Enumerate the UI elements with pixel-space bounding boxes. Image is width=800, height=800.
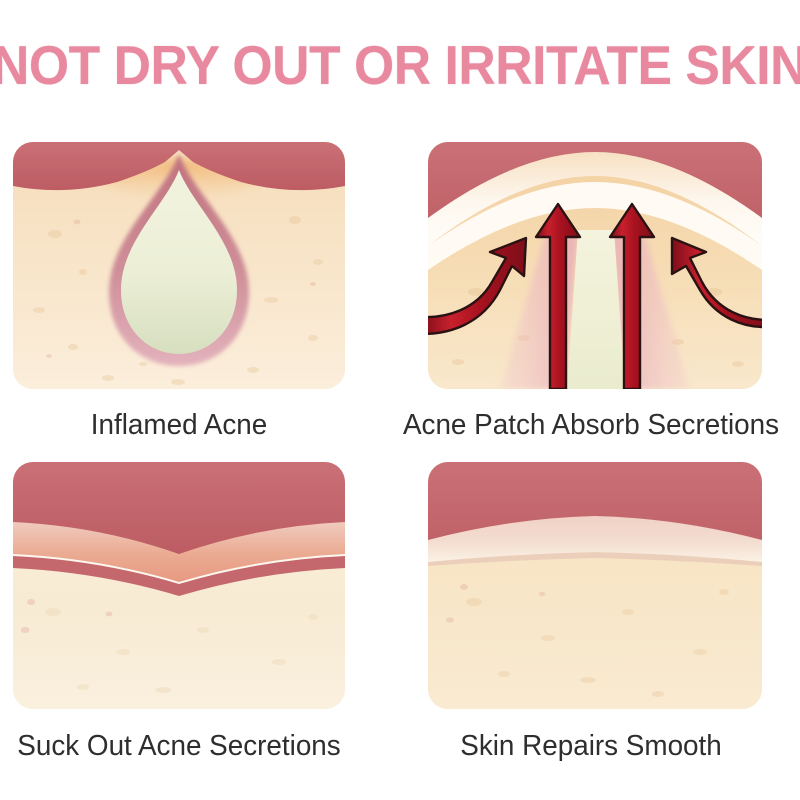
panel-inflamed-acne: [13, 142, 345, 389]
page-title-text: NOT DRY OUT OR IRRITATE SKIN: [0, 36, 800, 94]
caption-inflamed-acne: Inflamed Acne: [7, 408, 351, 442]
caption-skin-repairs-smooth: Skin Repairs Smooth: [390, 729, 791, 763]
caption-suck-out-secretions: Suck Out Acne Secretions: [7, 729, 351, 763]
illustration-inflamed-acne: [13, 142, 345, 389]
acne-patch-infographic: NOT DRY OUT OR IRRITATE SKIN: [0, 0, 800, 800]
caption-acne-patch-absorb: Acne Patch Absorb Secretions: [390, 408, 791, 442]
panel-skin-repairs-smooth: [428, 462, 762, 709]
illustration-acne-patch-absorb: [428, 142, 762, 389]
panel-acne-patch-absorb: [428, 142, 762, 389]
illustration-skin-repairs-smooth: [428, 462, 762, 709]
illustration-suck-out-secretions: [13, 462, 345, 709]
page-title: NOT DRY OUT OR IRRITATE SKIN: [0, 36, 800, 94]
panel-suck-out-secretions: [13, 462, 345, 709]
